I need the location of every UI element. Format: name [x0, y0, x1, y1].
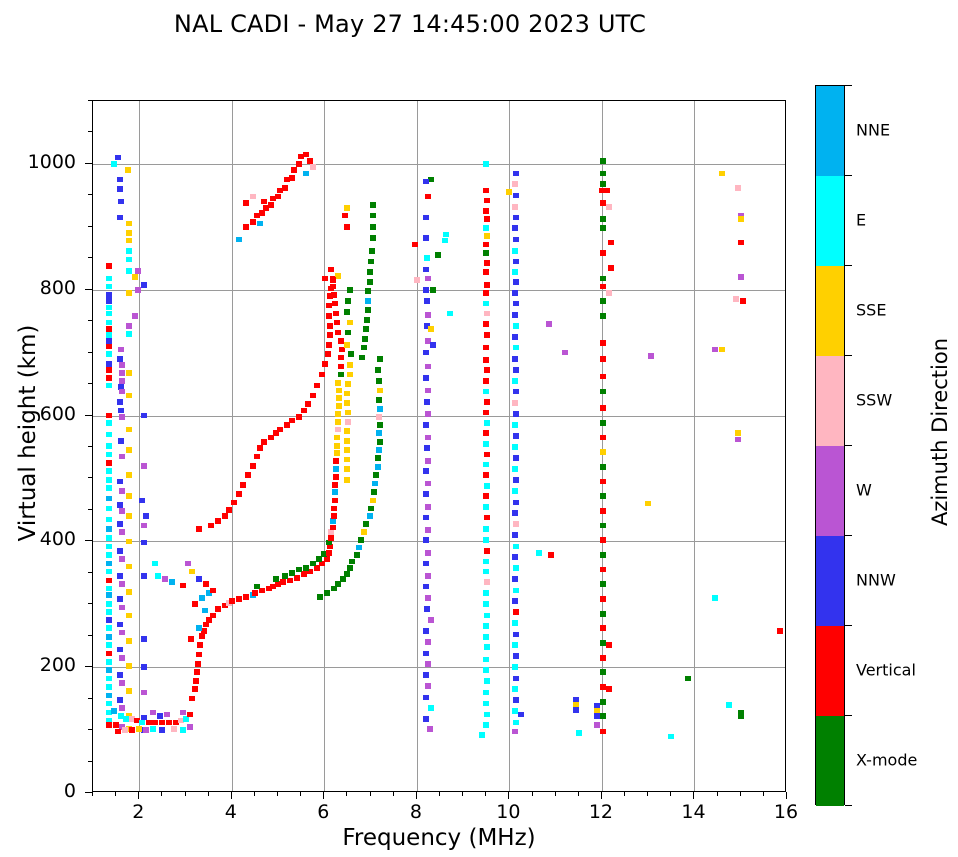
echo-point: [425, 573, 431, 579]
echo-point: [106, 413, 112, 419]
echo-point: [726, 702, 732, 708]
echo-point: [735, 430, 741, 436]
x-axis-tick-minor: [670, 792, 671, 796]
echo-point: [117, 596, 123, 602]
echo-point: [322, 361, 328, 367]
echo-point: [301, 408, 307, 414]
echo-point: [118, 408, 124, 414]
y-axis-tick-minor: [88, 131, 92, 132]
echo-point: [512, 204, 518, 210]
echo-point: [117, 177, 123, 183]
echo-point: [294, 575, 300, 581]
echo-point: [425, 364, 431, 370]
echo-point: [332, 301, 338, 307]
echo-point: [513, 653, 519, 659]
echo-point: [210, 613, 216, 619]
echo-point: [106, 367, 112, 373]
echo-point: [143, 513, 149, 519]
echo-point: [512, 729, 518, 735]
echo-point: [600, 158, 606, 164]
echo-point: [377, 356, 383, 362]
echo-point: [106, 420, 112, 426]
y-axis-tick-minor: [88, 226, 92, 227]
x-axis-tick-minor: [740, 792, 741, 796]
colorbar-segment-ssw[interactable]: [816, 356, 844, 446]
x-axis-tick-minor: [300, 792, 301, 796]
echo-point: [600, 405, 606, 411]
page-title: NAL CADI - May 27 14:45:00 2023 UTC: [0, 10, 820, 38]
echo-point: [331, 513, 337, 519]
echo-point: [345, 298, 351, 304]
echo-point: [483, 623, 489, 629]
echo-point: [513, 215, 519, 221]
echo-point: [126, 663, 132, 669]
x-axis-tick-minor: [532, 792, 533, 796]
echo-point: [336, 395, 342, 401]
echo-point: [106, 552, 112, 558]
echo-point: [424, 298, 430, 304]
echo-point: [334, 435, 340, 441]
echo-point: [273, 576, 279, 582]
echo-point: [483, 690, 489, 696]
echo-point: [106, 332, 112, 338]
echo-point: [117, 186, 123, 192]
echo-point: [150, 726, 156, 732]
echo-point: [425, 388, 431, 394]
echo-point: [135, 268, 141, 274]
echo-point: [185, 561, 191, 567]
echo-point: [324, 556, 330, 562]
x-axis-tick-label: 16: [761, 801, 811, 823]
echo-point: [483, 378, 489, 384]
echo-point: [187, 712, 193, 718]
echo-point: [483, 590, 489, 596]
x-axis-tick-label: 6: [298, 801, 348, 823]
x-axis-tick-minor: [647, 792, 648, 796]
echo-point: [483, 430, 489, 436]
echo-point: [513, 389, 519, 395]
echo-point: [333, 311, 339, 317]
echo-point: [344, 466, 350, 472]
echo-point: [423, 537, 429, 543]
echo-point: [738, 713, 744, 719]
echo-point: [344, 428, 350, 434]
echo-point: [141, 664, 147, 670]
echo-point: [484, 311, 490, 317]
azimuth-colorbar[interactable]: [815, 85, 845, 805]
x-axis-tick-minor: [485, 792, 486, 796]
echo-point: [111, 161, 117, 167]
echo-point: [106, 276, 112, 282]
echo-point: [483, 504, 489, 510]
echo-point: [119, 630, 125, 636]
echo-point: [443, 232, 449, 238]
echo-point: [326, 550, 332, 556]
echo-point: [115, 729, 121, 735]
echo-point: [106, 477, 112, 483]
echo-point: [139, 720, 145, 726]
echo-point: [573, 707, 579, 713]
echo-point: [513, 477, 519, 483]
echo-point: [512, 334, 518, 340]
echo-point: [513, 279, 519, 285]
echo-point: [365, 307, 371, 313]
echo-point: [250, 194, 256, 200]
echo-point: [484, 282, 490, 288]
echo-point: [600, 464, 606, 470]
echo-point: [606, 642, 612, 648]
echo-point: [447, 311, 453, 317]
echo-point: [484, 367, 490, 373]
x-axis-tick-major: [416, 792, 417, 799]
echo-point: [328, 535, 334, 541]
echo-point: [600, 225, 606, 231]
gridline-horizontal: [93, 667, 785, 668]
echo-point: [296, 414, 302, 420]
echo-point: [424, 255, 430, 261]
echo-point: [423, 672, 429, 678]
echo-point: [126, 248, 132, 254]
echo-point: [600, 389, 606, 395]
echo-point: [335, 419, 341, 425]
echo-point: [141, 690, 147, 696]
echo-point: [243, 594, 249, 600]
x-axis-tick-minor: [92, 792, 93, 796]
echo-point: [119, 581, 125, 587]
gridline-vertical: [509, 101, 510, 791]
echo-point: [106, 320, 112, 326]
echo-point: [375, 464, 381, 470]
x-axis-tick-major: [231, 792, 232, 799]
echo-point: [370, 498, 376, 504]
echo-point: [600, 313, 606, 319]
ionogram-plot-area: [92, 100, 786, 792]
echo-point: [600, 216, 606, 222]
echo-point: [282, 573, 288, 579]
echo-point: [600, 699, 606, 705]
echo-point: [122, 727, 128, 733]
echo-point: [330, 525, 336, 531]
echo-point: [106, 292, 112, 298]
echo-point: [115, 155, 121, 161]
echo-point: [600, 276, 606, 282]
y-axis-tick-label: 1000: [10, 151, 76, 173]
y-axis-tick-minor: [88, 729, 92, 730]
echo-point: [106, 526, 112, 532]
echo-point: [106, 351, 112, 357]
echo-point: [576, 730, 582, 736]
gridline-horizontal: [93, 541, 785, 542]
echo-point: [180, 710, 186, 716]
echo-point: [106, 284, 112, 290]
echo-point: [423, 422, 429, 428]
echo-point: [126, 230, 132, 236]
echo-point: [226, 507, 232, 513]
echo-point: [169, 579, 175, 585]
echo-point: [425, 504, 431, 510]
echo-point: [484, 452, 490, 458]
y-axis-tick-minor: [88, 603, 92, 604]
echo-point: [425, 683, 431, 689]
colorbar-segment-x-mode[interactable]: [816, 716, 844, 806]
echo-point: [296, 161, 302, 167]
echo-point: [356, 545, 362, 551]
echo-point: [370, 202, 376, 208]
echo-point: [126, 513, 132, 519]
echo-point: [484, 613, 490, 619]
echo-point: [106, 432, 112, 438]
echo-point: [423, 468, 429, 474]
echo-point: [600, 567, 606, 573]
echo-point: [257, 221, 263, 227]
y-axis-tick-label: 600: [10, 403, 76, 425]
echo-point: [608, 265, 614, 271]
echo-point: [296, 567, 302, 573]
echo-point: [126, 472, 132, 478]
echo-point: [430, 287, 436, 293]
echo-point: [303, 152, 309, 158]
echo-point: [141, 573, 147, 579]
echo-point: [600, 493, 606, 499]
echo-point: [425, 595, 431, 601]
echo-point: [332, 489, 338, 495]
echo-point: [735, 437, 741, 443]
echo-point: [203, 581, 209, 587]
echo-point: [243, 224, 249, 230]
echo-point: [240, 482, 246, 488]
gridline-vertical: [324, 101, 325, 791]
echo-point: [106, 578, 112, 584]
echo-point: [606, 204, 612, 210]
echo-point: [424, 606, 430, 612]
echo-point: [332, 498, 338, 504]
echo-point: [367, 279, 373, 285]
gridline-horizontal: [93, 416, 785, 417]
x-axis-tick-minor: [462, 792, 463, 796]
echo-point: [600, 713, 606, 719]
echo-point: [192, 686, 198, 692]
colorbar-label-vertical: Vertical: [856, 661, 916, 680]
echo-point: [372, 481, 378, 487]
echo-point: [199, 633, 205, 639]
y-axis-tick-minor: [88, 572, 92, 573]
echo-point: [483, 441, 489, 447]
echo-point: [106, 326, 112, 332]
echo-point: [484, 579, 490, 585]
echo-point: [377, 422, 383, 428]
echo-point: [215, 606, 221, 612]
echo-point: [126, 427, 132, 433]
echo-point: [194, 669, 200, 675]
echo-point: [106, 544, 112, 550]
echo-point: [111, 708, 117, 714]
echo-point: [513, 171, 519, 177]
echo-point: [377, 406, 383, 412]
echo-point: [513, 588, 519, 594]
x-axis-tick-label: 8: [391, 801, 441, 823]
echo-point: [483, 462, 489, 468]
colorbar-segment-nnw[interactable]: [816, 536, 844, 626]
echo-point: [375, 367, 381, 373]
echo-point: [423, 695, 429, 701]
y-axis-tick-minor: [88, 698, 92, 699]
echo-point: [119, 680, 125, 686]
echo-point: [141, 636, 147, 642]
echo-point: [342, 213, 348, 219]
echo-point: [425, 481, 431, 487]
echo-point: [143, 727, 149, 733]
echo-point: [106, 659, 112, 665]
echo-point: [106, 693, 112, 699]
echo-point: [428, 705, 434, 711]
x-axis-tick-minor: [555, 792, 556, 796]
colorbar-segment-e[interactable]: [816, 176, 844, 266]
echo-point: [106, 468, 112, 474]
echo-point: [600, 655, 606, 661]
echo-point: [119, 414, 125, 420]
echo-point: [119, 389, 125, 395]
echo-point: [106, 667, 112, 673]
echo-point: [738, 274, 744, 280]
echo-point: [106, 383, 112, 389]
echo-point: [307, 158, 313, 164]
echo-point: [243, 200, 249, 206]
y-axis-tick-label: 200: [10, 654, 76, 676]
echo-point: [377, 388, 383, 394]
echo-point: [326, 342, 332, 348]
colorbar-segment-nne[interactable]: [816, 86, 844, 176]
echo-point: [280, 579, 286, 585]
echo-point: [118, 199, 124, 205]
echo-point: [196, 576, 202, 582]
echo-point: [106, 517, 112, 523]
echo-point: [425, 527, 431, 533]
echo-point: [483, 208, 489, 214]
colorbar-tick: [845, 175, 852, 176]
echo-point: [712, 347, 718, 353]
echo-point: [512, 181, 518, 187]
echo-point: [106, 586, 112, 592]
echo-point: [275, 194, 281, 200]
echo-point: [345, 381, 351, 387]
echo-point: [106, 722, 112, 728]
echo-point: [193, 678, 199, 684]
echo-point: [344, 391, 350, 397]
echo-point: [604, 188, 610, 194]
echo-point: [106, 701, 112, 707]
echo-point: [192, 601, 198, 607]
echo-point: [518, 712, 524, 718]
echo-point: [423, 375, 429, 381]
echo-point: [324, 590, 330, 596]
echo-point: [606, 290, 612, 296]
echo-point: [513, 433, 519, 439]
echo-point: [484, 260, 490, 266]
echo-point: [483, 250, 489, 256]
echo-point: [512, 598, 518, 604]
echo-point: [252, 590, 258, 596]
echo-point: [117, 502, 123, 508]
colorbar-segment-w[interactable]: [816, 446, 844, 536]
colorbar-segment-vertical[interactable]: [816, 626, 844, 716]
colorbar-tick: [845, 265, 852, 266]
echo-point: [512, 642, 518, 648]
x-axis-tick-label: 14: [668, 801, 718, 823]
echo-point: [289, 175, 295, 181]
echo-point: [512, 290, 518, 296]
echo-point: [333, 466, 339, 472]
echo-point: [425, 661, 431, 667]
echo-point: [119, 362, 125, 368]
x-axis-tick-minor: [277, 792, 278, 796]
echo-point: [202, 608, 208, 614]
echo-point: [361, 529, 367, 535]
echo-point: [344, 224, 350, 230]
echo-point: [423, 651, 429, 657]
echo-point: [645, 501, 651, 507]
echo-point: [376, 378, 382, 384]
echo-point: [365, 298, 371, 304]
echo-point: [513, 193, 519, 199]
echo-point: [347, 362, 353, 368]
echo-point: [317, 594, 323, 600]
colorbar-label-x-mode: X-mode: [856, 751, 917, 770]
echo-point: [316, 556, 322, 562]
echo-point: [150, 710, 156, 716]
echo-point: [371, 489, 377, 495]
colorbar-label-nne: NNE: [856, 121, 890, 140]
echo-point: [106, 535, 112, 541]
echo-point: [512, 620, 518, 626]
echo-point: [368, 506, 374, 512]
x-axis-tick-minor: [763, 792, 764, 796]
colorbar-segment-sse[interactable]: [816, 266, 844, 356]
echo-point: [512, 532, 518, 538]
echo-point: [344, 342, 350, 348]
echo-point: [136, 726, 142, 732]
echo-point: [141, 463, 147, 469]
echo-point: [117, 548, 123, 554]
echo-point: [738, 240, 744, 246]
echo-point: [335, 427, 341, 433]
x-axis-tick-major: [508, 792, 509, 799]
echo-point: [106, 452, 112, 458]
echo-point: [117, 399, 123, 405]
echo-point: [106, 311, 112, 317]
echo-point: [119, 605, 125, 611]
echo-point: [425, 276, 431, 282]
x-axis-tick-label: 12: [576, 801, 626, 823]
echo-point: [119, 488, 125, 494]
echo-point: [484, 712, 490, 718]
echo-point: [261, 199, 267, 205]
x-axis-tick-major: [693, 792, 694, 799]
echo-point: [164, 712, 170, 718]
colorbar-label-sse: SSE: [856, 301, 886, 320]
x-axis-tick-major: [138, 792, 139, 799]
echo-point: [364, 317, 370, 323]
echo-point: [106, 344, 112, 350]
echo-point: [126, 257, 132, 263]
x-axis-title: Frequency (MHz): [92, 825, 786, 851]
echo-point: [347, 372, 353, 378]
echo-point: [344, 205, 350, 211]
echo-point: [600, 508, 606, 514]
echo-point: [326, 303, 332, 309]
x-axis-tick-major: [601, 792, 602, 799]
echo-point: [423, 267, 429, 273]
x-axis-tick-minor: [346, 792, 347, 796]
